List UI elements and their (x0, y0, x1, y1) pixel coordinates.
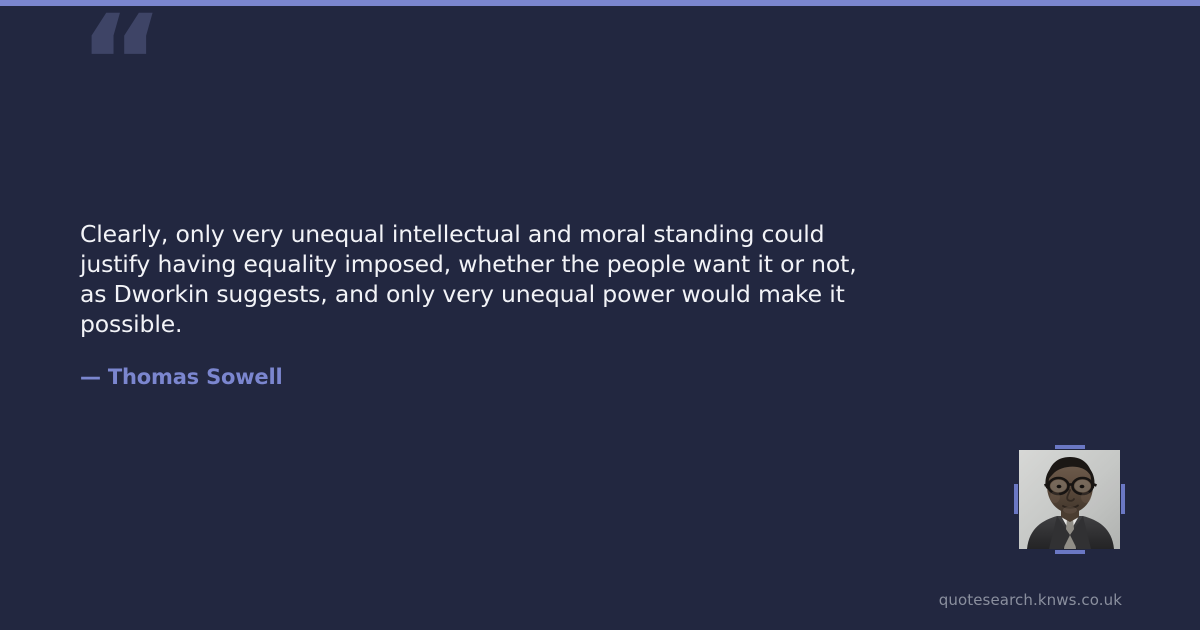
portrait-edge-tick-left (1014, 484, 1018, 514)
quote-card: “ Clearly, only very unequal intellectua… (0, 0, 1200, 630)
quote-block: Clearly, only very unequal intellectual … (80, 219, 1010, 339)
portrait-edge-tick-right (1121, 484, 1125, 514)
author-portrait-image (1019, 450, 1120, 549)
quotation-mark-icon: “ (78, 0, 163, 130)
site-watermark: quotesearch.knws.co.uk (939, 590, 1122, 610)
portrait-edge-tick-bottom (1055, 550, 1085, 554)
quote-attribution: — Thomas Sowell (80, 363, 282, 391)
top-accent-bar (0, 0, 1200, 6)
quote-text: Clearly, only very unequal intellectual … (80, 219, 1010, 339)
portrait-edge-tick-top (1055, 445, 1085, 449)
author-portrait (1019, 450, 1120, 549)
